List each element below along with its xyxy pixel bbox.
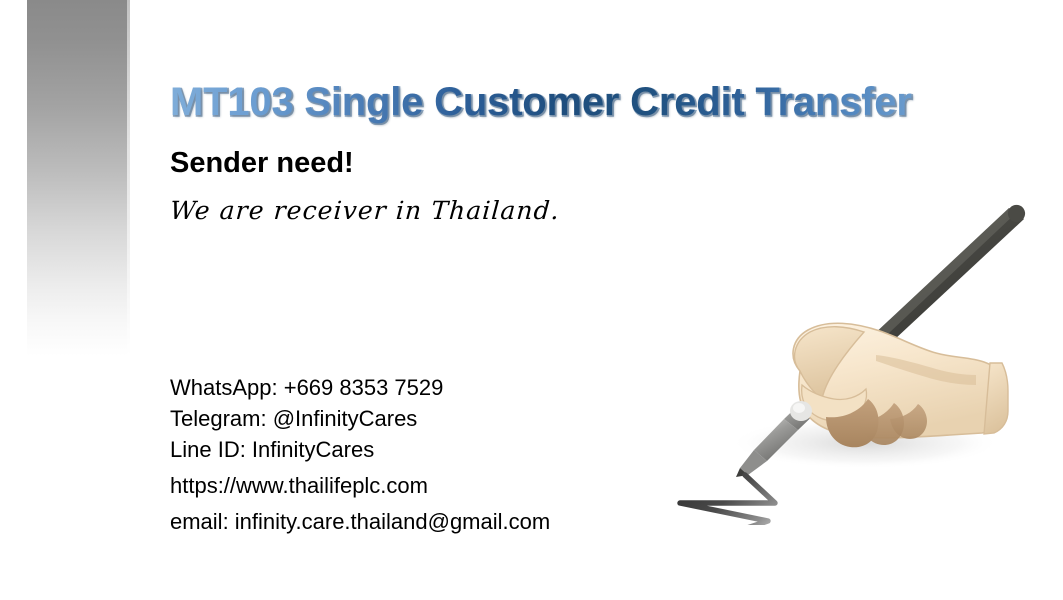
contact-details-block: WhatsApp: +669 8353 7529 Telegram: @Infi… [170, 372, 730, 537]
contact-website[interactable]: https://www.thailifeplc.com [170, 470, 730, 501]
contact-line-id: Line ID: InfinityCares [170, 434, 730, 465]
contact-whatsapp: WhatsApp: +669 8353 7529 [170, 372, 730, 403]
page-title: MT103 Single Customer Credit Transfer [170, 78, 1020, 126]
signature-stroke [680, 475, 790, 525]
contact-email[interactable]: email: infinity.care.thailand@gmail.com [170, 506, 730, 537]
script-subtitle-text: We are receiver in Thailand. [169, 195, 561, 227]
slide-canvas: MT103 Single Customer Credit Transfer MT… [0, 0, 1063, 600]
contact-telegram: Telegram: @InfinityCares [170, 403, 730, 434]
left-gradient-bar [27, 0, 127, 356]
headline-text: Sender need! [170, 145, 354, 181]
left-gradient-bar-edge [127, 0, 130, 356]
hand-writing-with-pen-illustration [650, 185, 1050, 525]
